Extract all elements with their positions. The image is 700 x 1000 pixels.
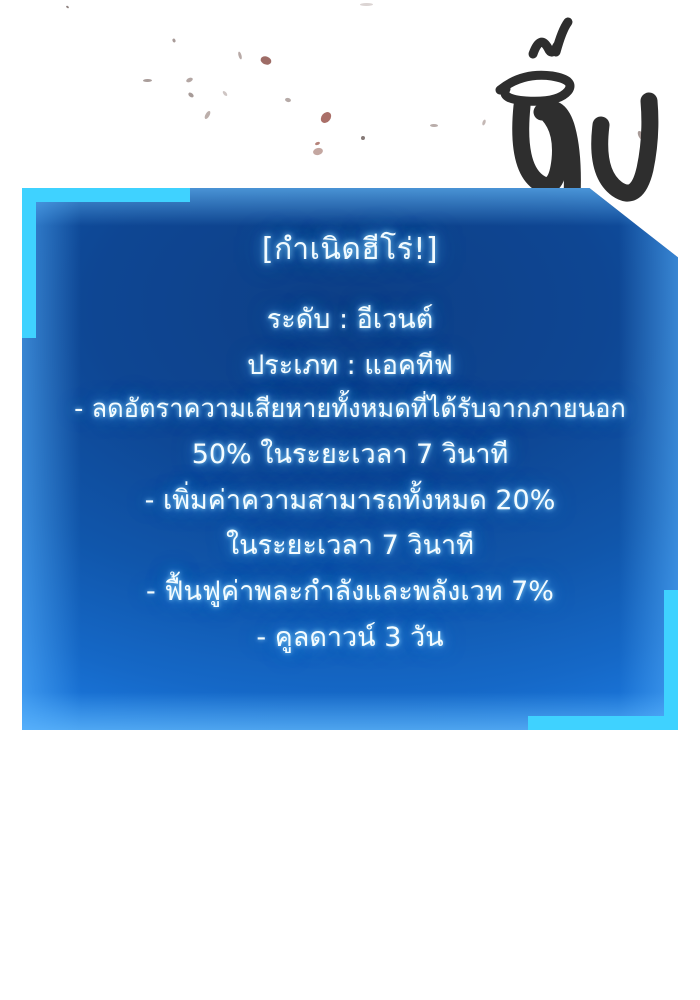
debris-speck bbox=[518, 140, 524, 150]
debris-speck bbox=[143, 79, 152, 82]
panel-stat-line: - ลดอัตราความเสียหายทั้งหมดที่ได้รับจากภ… bbox=[74, 389, 626, 430]
debris-speck bbox=[482, 119, 487, 126]
system-notification-panel: [กำเนิดฮีโร่!] ระดับ : อีเวนต์ประเภท : แ… bbox=[22, 188, 678, 730]
debris-speck bbox=[319, 110, 334, 125]
panel-stat-line: ประเภท : แอคทีฟ bbox=[247, 344, 453, 388]
panel-stat-list: ระดับ : อีเวนต์ประเภท : แอคทีฟ- ลดอัตราค… bbox=[74, 298, 626, 659]
panel-stat-line: - ฟื้นฟูค่าพละกำลังและพลังเวท 7% bbox=[146, 570, 554, 614]
panel-title: [กำเนิดฮีโร่!] bbox=[262, 232, 438, 268]
debris-speck bbox=[361, 136, 365, 140]
panel-stat-line: 50% ในระยะเวลา 7 วินาที bbox=[192, 433, 509, 477]
panel-stat-line: ในระยะเวลา 7 วินาที bbox=[226, 524, 474, 568]
debris-speck bbox=[185, 77, 193, 84]
debris-speck bbox=[430, 124, 438, 127]
debris-speck bbox=[636, 130, 645, 141]
debris-speck bbox=[172, 38, 176, 43]
debris-speck bbox=[222, 90, 228, 97]
comic-panel-scene: [กำเนิดฮีโร่!] ระดับ : อีเวนต์ประเภท : แ… bbox=[0, 0, 700, 1000]
sound-effect-icon bbox=[470, 6, 690, 211]
debris-speck bbox=[237, 51, 242, 60]
panel-stat-line: ระดับ : อีเวนต์ bbox=[267, 298, 434, 342]
debris-speck bbox=[285, 97, 292, 102]
debris-speck bbox=[187, 92, 194, 99]
panel-stat-line: - เพิ่มค่าความสามารถทั้งหมด 20% bbox=[145, 479, 556, 523]
debris-speck bbox=[312, 147, 323, 156]
panel-stat-line: - คูลดาวน์ 3 วัน bbox=[256, 616, 443, 660]
debris-speck bbox=[315, 141, 321, 145]
debris-speck bbox=[259, 55, 272, 66]
background-debris bbox=[0, 0, 700, 190]
panel-content: [กำเนิดฮีโร่!] ระดับ : อีเวนต์ประเภท : แ… bbox=[22, 188, 678, 730]
debris-speck bbox=[204, 110, 212, 120]
debris-speck bbox=[360, 3, 373, 6]
debris-speck bbox=[66, 5, 70, 8]
